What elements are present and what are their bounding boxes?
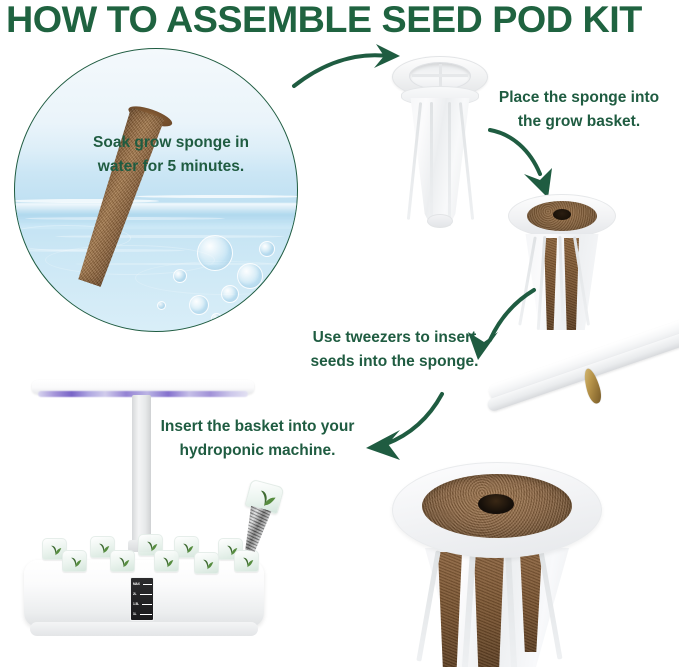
hydroponic-machine-image: MAX 2L 1.5L 1L: [18, 378, 293, 653]
basket-slat: [430, 102, 433, 226]
pod-cone: [239, 505, 272, 553]
sprout-icon: [160, 555, 175, 568]
step-seeds-caption-line2: seeds into the sponge.: [297, 350, 492, 374]
step-place-caption-line1: Place the sponge into: [484, 86, 674, 110]
water-bubble: [237, 263, 263, 289]
pod-slot: [62, 550, 87, 572]
gauge-tick: [143, 584, 152, 585]
water-bubble: [189, 295, 209, 315]
water-bubble: [211, 313, 222, 324]
sprout-icon: [116, 555, 131, 568]
water-bubble: [247, 299, 260, 312]
infographic-page: HOW TO ASSEMBLE SEED POD KIT Soak grow s…: [0, 0, 679, 667]
basket-slat: [416, 550, 440, 661]
sprout-icon: [200, 557, 215, 570]
wave-line: [135, 195, 298, 198]
sprout-icon: [68, 555, 83, 568]
sponge-strip: [474, 552, 504, 667]
pod-being-inserted: [232, 478, 287, 555]
machine-base-foot: [30, 622, 258, 636]
step-soak-caption-line2: water for 5 minutes.: [49, 155, 293, 179]
gauge-tick: [142, 604, 152, 605]
step-soak-caption-line1: Soak grow sponge in: [49, 131, 293, 155]
wave-line: [14, 199, 159, 203]
water-bubble: [157, 301, 166, 310]
step-seeds-caption-line1: Use tweezers to insert: [297, 326, 492, 350]
gauge-tick: [140, 594, 152, 595]
step-soak-caption: Soak grow sponge in water for 5 minutes.: [49, 131, 293, 179]
step-soak-image: Soak grow sponge in water for 5 minutes.: [14, 48, 298, 332]
step-place-caption: Place the sponge into the grow basket.: [484, 86, 674, 134]
pod-slot: [110, 550, 135, 572]
seed-hole: [553, 209, 571, 220]
basket-base-ring: [427, 214, 453, 228]
basket-crossbar: [412, 74, 468, 77]
sprout-icon: [96, 541, 111, 554]
water-bubble: [173, 269, 187, 283]
gauge-label-max: MAX: [133, 582, 153, 590]
tweezers: [476, 352, 679, 468]
light-post: [132, 395, 151, 545]
water-bubble: [197, 235, 233, 271]
gauge-tick: [140, 614, 152, 615]
sprout-icon: [48, 543, 63, 556]
pod-slot: [234, 550, 259, 572]
sprout-icon: [240, 555, 255, 568]
pod-slot: [154, 550, 179, 572]
water-bubble: [221, 285, 239, 303]
page-title: HOW TO ASSEMBLE SEED POD KIT: [6, 0, 679, 42]
sprout-icon: [180, 541, 195, 554]
step-place-basket-image: [392, 56, 488, 234]
seed-hole: [478, 494, 514, 514]
gauge-label-1l: 1L: [133, 612, 153, 620]
pod-slot: [194, 552, 219, 574]
gauge-label-2l: 2L: [133, 592, 153, 600]
water-bubble: [267, 277, 277, 287]
water-bubble: [259, 241, 275, 257]
gauge-label-1-5l: 1.5L: [133, 602, 153, 610]
water-level-gauge: MAX 2L 1.5L 1L: [130, 577, 154, 621]
step-seeds-closeup-image: [370, 440, 679, 667]
basket-slat: [448, 102, 451, 226]
step-seeds-caption: Use tweezers to insert seeds into the sp…: [297, 326, 492, 374]
sprout-icon: [254, 487, 278, 510]
